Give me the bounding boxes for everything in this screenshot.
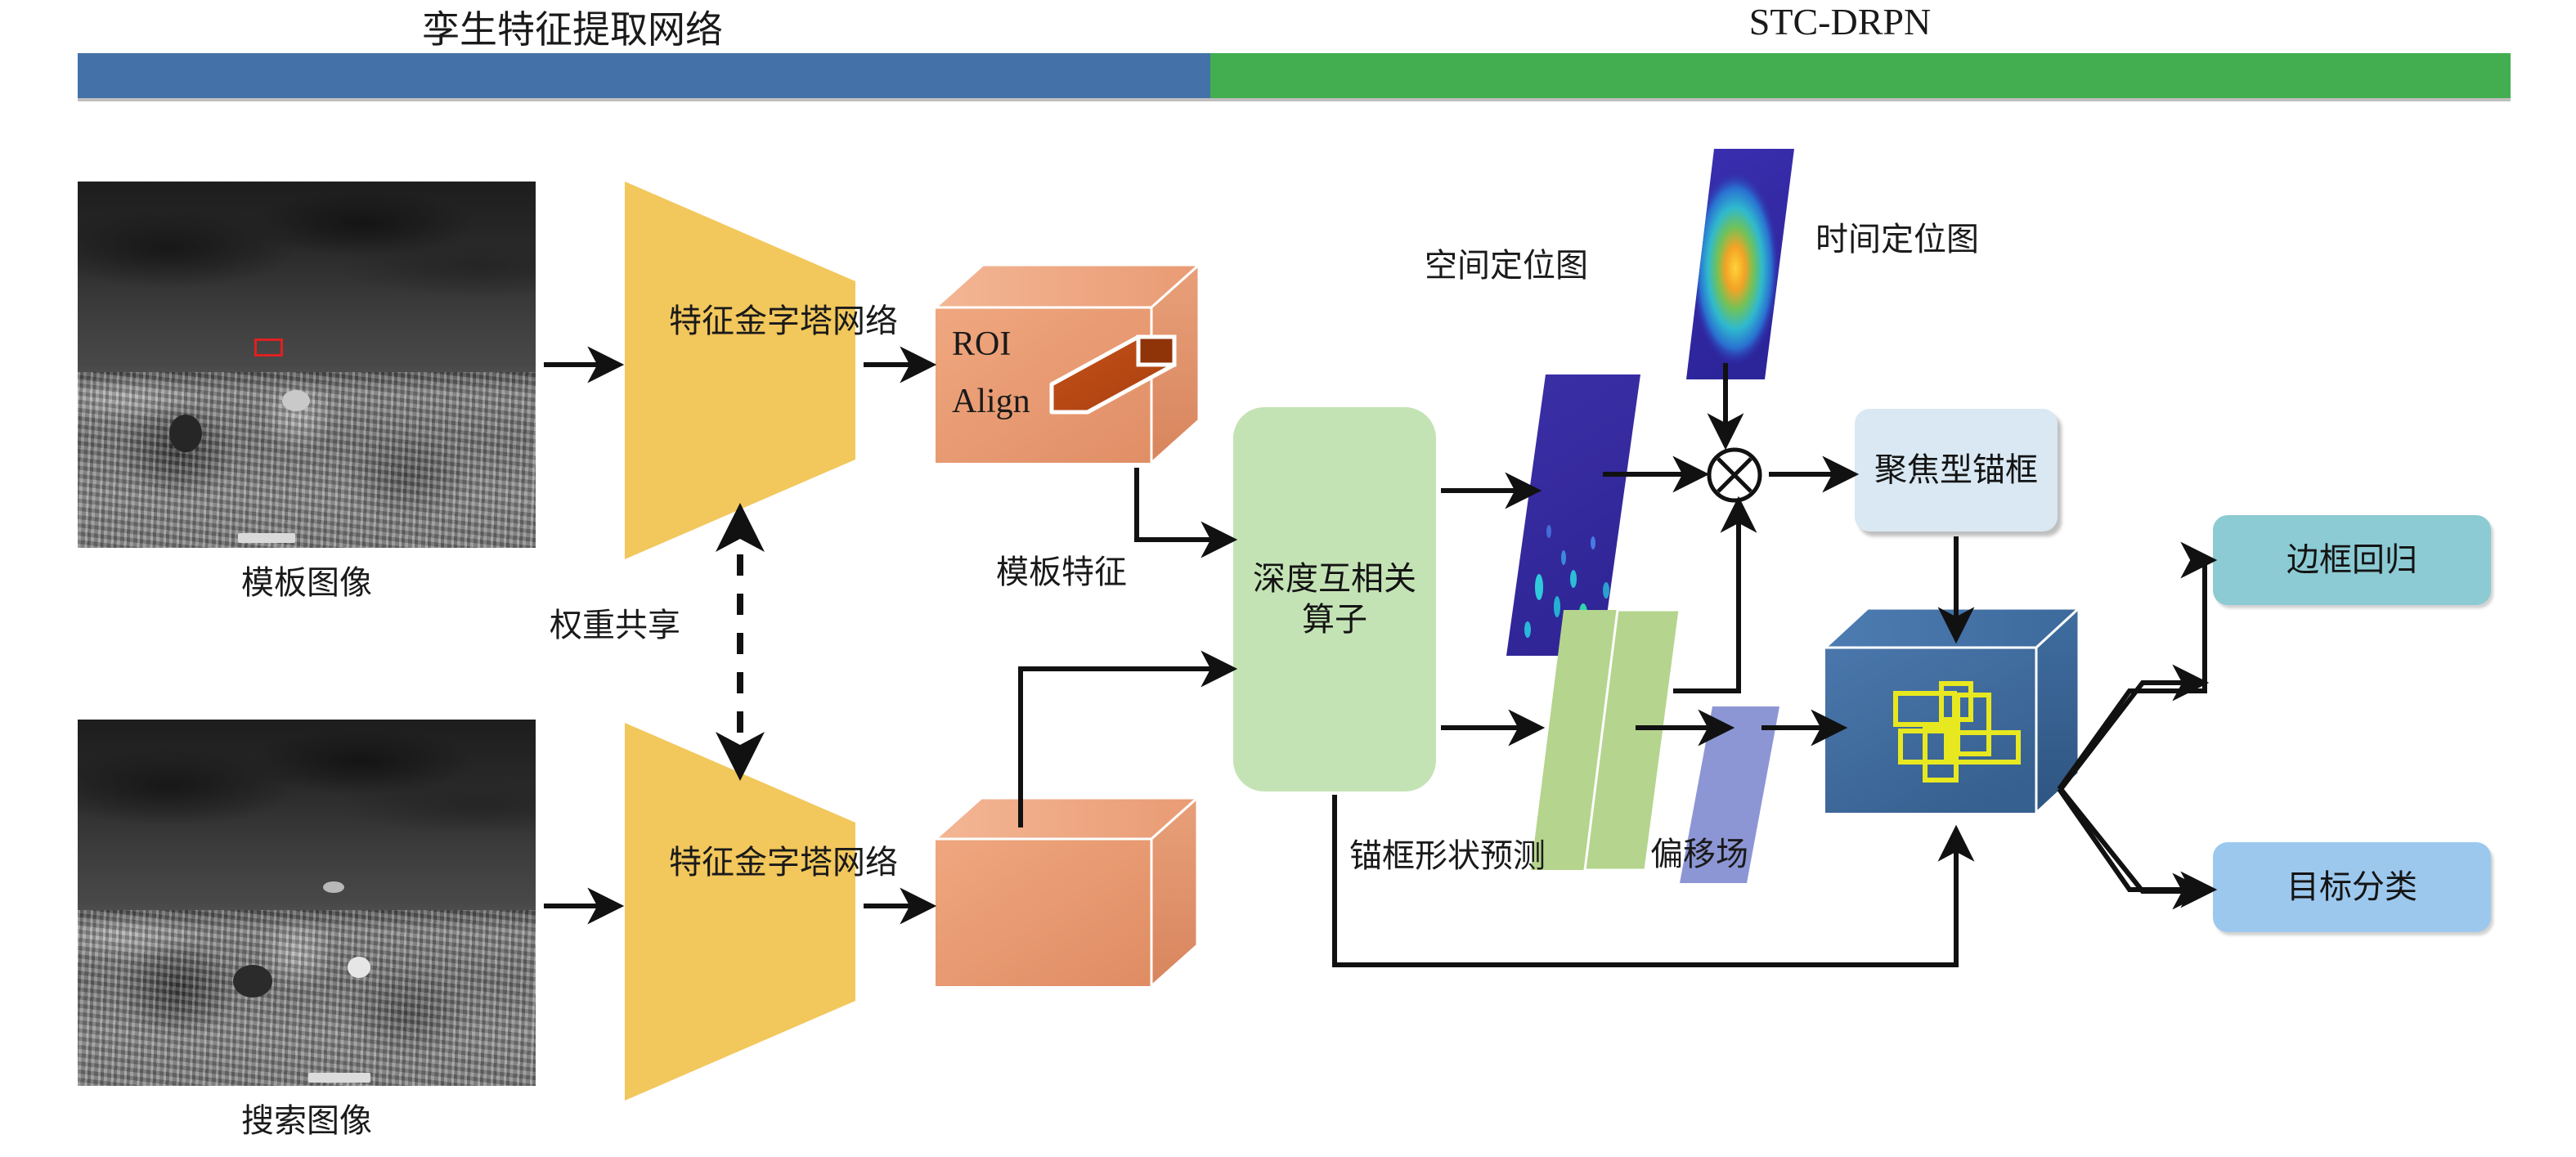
diagram-canvas: 孪生特征提取网络 STC-DRPN 模板图像 搜索图像 特征金字塔网络 <box>0 0 2576 1157</box>
head-output-branches <box>0 0 2576 1157</box>
